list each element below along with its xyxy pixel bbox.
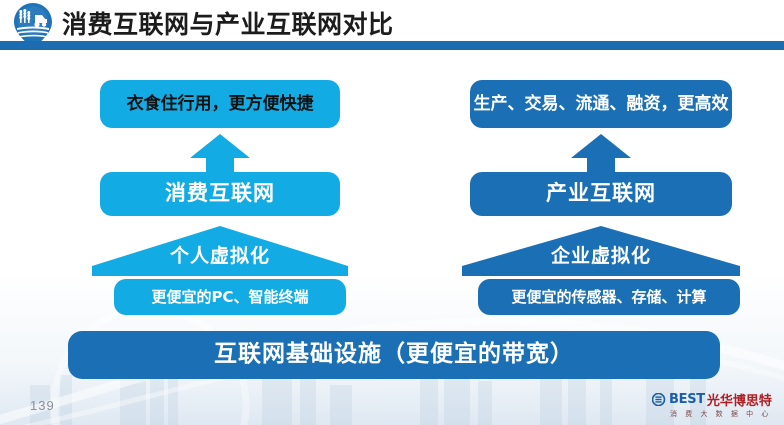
- brand-mark: BEST: [669, 392, 705, 407]
- slide-canvas: 消费互联网与产业互联网对比 衣食住行用，更方便快捷 消费互联网 个人虚拟化 更便…: [0, 0, 784, 425]
- slide-header: 消费互联网与产业互联网对比: [0, 0, 784, 52]
- industry-layer-label: 企业虚拟化: [462, 238, 740, 270]
- industry-outcome-box: 生产、交易、流通、融资，更高效: [470, 80, 732, 128]
- industry-up-arrow-icon: [569, 134, 633, 174]
- page-number: 139: [30, 398, 55, 413]
- consumer-outcome-box: 衣食住行用，更方便快捷: [100, 80, 340, 128]
- brand-lockup: BEST 光华博思特: [652, 391, 772, 408]
- consumer-layer-label: 个人虚拟化: [92, 238, 348, 270]
- consumer-up-arrow-icon: [188, 134, 252, 174]
- brand-name: 光华博思特: [707, 390, 772, 409]
- industry-enabler-box: 更便宜的传感器、存储、计算: [478, 279, 740, 315]
- foundation-bar: 互联网基础设施（更便宜的带宽）: [68, 331, 720, 379]
- industry-title-box: 产业互联网: [470, 172, 732, 216]
- page-title: 消费互联网与产业互联网对比: [62, 5, 394, 41]
- consumer-title-box: 消费互联网: [100, 172, 340, 216]
- consumer-enabler-box: 更便宜的PC、智能终端: [114, 279, 346, 315]
- title-underline-rule: [0, 41, 784, 50]
- best-logo-icon: [652, 393, 667, 406]
- brand-subtitle: 消 费 大 数 据 中 心: [670, 409, 771, 419]
- company-logo: BEST 光华博思特 消 费 大 数 据 中 心: [652, 391, 776, 421]
